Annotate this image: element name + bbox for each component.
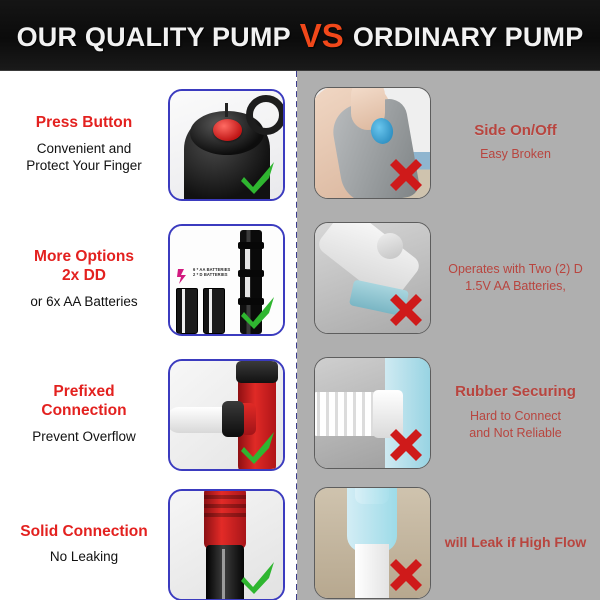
left-row-2-title-line-1: More Options	[34, 248, 134, 267]
left-row-1-line-2: Protect Your Finger	[26, 157, 142, 175]
infographic-page: OUR QUALITY PUMP VS ORDINARY PUMP Press …	[0, 0, 600, 600]
right-row-leak: will Leak if High Flow	[297, 475, 600, 600]
left-row-3-title: Prefixed Connection	[41, 383, 126, 421]
left-row-solid-connection: Solid Connection No Leaking	[0, 477, 297, 600]
cross-mark-icon	[386, 155, 426, 195]
cap-handle-loop	[246, 95, 285, 135]
header-vs-label: VS	[300, 17, 344, 55]
white-tube	[355, 544, 389, 599]
prefixed-connection-photo	[168, 359, 285, 471]
ordinary-batteries-photo	[314, 222, 431, 334]
left-row-4-title: Solid Connection	[20, 523, 147, 542]
right-row-batteries: Operates with Two (2) D 1.5V AA Batterie…	[297, 210, 600, 345]
header-title-group: OUR QUALITY PUMP VS ORDINARY PUMP	[17, 16, 584, 54]
check-mark-icon	[239, 291, 279, 331]
left-row-press-button: Press Button Convenient and Protect Your…	[0, 77, 297, 212]
left-row-2-title-line-2: 2x DD	[34, 267, 134, 286]
left-column-our-quality-pump: Press Button Convenient and Protect Your…	[0, 71, 297, 600]
d-cell-battery-1	[176, 288, 198, 334]
solid-connection-photo	[168, 489, 285, 600]
black-cap-top	[236, 361, 278, 383]
left-row-4-text: Solid Connection No Leaking	[0, 523, 168, 567]
cross-mark-icon	[386, 425, 426, 465]
left-row-4-line-1: No Leaking	[50, 548, 118, 566]
right-row-side-on-off: Side On/Off Easy Broken	[297, 75, 600, 210]
left-row-3-line-1: Prevent Overflow	[32, 428, 136, 446]
battery-brand-logo-icon	[175, 268, 191, 285]
left-row-3-title-line-1: Prefixed	[41, 383, 126, 402]
right-column-ordinary-pump: Side On/Off Easy Broken	[297, 71, 600, 600]
check-mark-icon	[239, 556, 279, 596]
right-row-1-title: Side On/Off	[474, 122, 557, 141]
header-left-title: OUR QUALITY PUMP	[17, 22, 291, 53]
leaking-nozzle-photo	[314, 487, 431, 599]
d-cell-battery-2	[203, 288, 225, 334]
left-row-2-title: More Options 2x DD	[34, 248, 134, 286]
side-switch-photo	[314, 87, 431, 199]
right-row-1-line-1: Easy Broken	[480, 146, 551, 163]
right-row-3-title: Rubber Securing	[455, 383, 576, 402]
white-cap	[377, 233, 403, 259]
header-bar: OUR QUALITY PUMP VS ORDINARY PUMP	[0, 0, 600, 71]
right-row-3-text: Rubber Securing Hard to Connect and Not …	[431, 383, 600, 442]
blue-nozzle-top	[355, 487, 389, 504]
right-row-2-line-1: Operates with Two (2) D	[448, 261, 583, 278]
header-right-title: ORDINARY PUMP	[353, 22, 584, 53]
check-mark-icon	[239, 426, 279, 466]
rubber-securing-photo	[314, 357, 431, 469]
cross-mark-icon	[386, 555, 426, 595]
pump-cap-with-red-button-photo	[168, 89, 285, 201]
right-row-3-line-2: and Not Reliable	[469, 425, 561, 442]
left-row-1-text: Press Button Convenient and Protect Your…	[0, 114, 168, 176]
right-row-rubber-securing: Rubber Securing Hard to Connect and Not …	[297, 345, 600, 480]
right-row-3-line-1: Hard to Connect	[470, 408, 561, 425]
left-row-more-options: More Options 2x DD or 6x AA Batteries 6 …	[0, 212, 297, 347]
left-row-1-line-1: Convenient and	[37, 140, 132, 158]
comparison-body: Press Button Convenient and Protect Your…	[0, 71, 600, 600]
cap-stem	[225, 103, 228, 117]
left-row-1-title: Press Button	[36, 114, 132, 133]
battery-options-photo: 6 * AA BATTERIES 2 * D BATTERIES	[168, 224, 285, 336]
right-row-1-text: Side On/Off Easy Broken	[431, 122, 600, 164]
right-row-2-line-2: 1.5V AA Batteries,	[465, 278, 566, 295]
right-row-2-text: Operates with Two (2) D 1.5V AA Batterie…	[431, 261, 600, 295]
check-mark-icon	[239, 156, 279, 196]
right-row-4-text: will Leak if High Flow	[431, 533, 600, 552]
left-row-3-title-line-2: Connection	[41, 402, 126, 421]
left-row-2-text: More Options 2x DD or 6x AA Batteries	[0, 248, 168, 311]
left-row-prefixed-connection: Prefixed Connection Prevent Overflow	[0, 347, 297, 482]
left-row-3-text: Prefixed Connection Prevent Overflow	[0, 383, 168, 446]
red-press-button	[213, 119, 242, 141]
right-row-4-line-1: will Leak if High Flow	[445, 533, 587, 552]
left-row-2-line-1: or 6x AA Batteries	[30, 293, 137, 311]
cross-mark-icon	[386, 290, 426, 330]
